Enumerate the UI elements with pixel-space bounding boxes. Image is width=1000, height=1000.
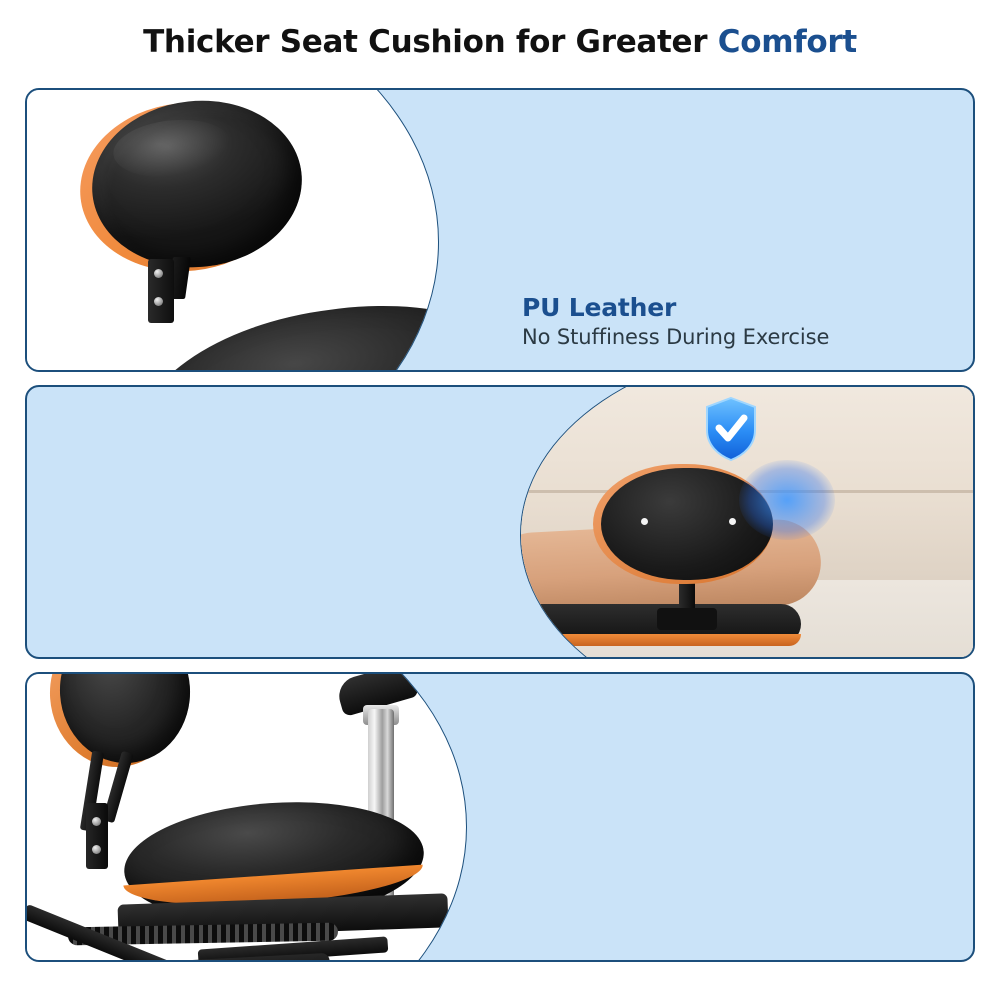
feature-subtitle: No Stuffiness During Exercise <box>522 325 829 351</box>
photo-inner <box>25 88 438 372</box>
bolt-icon <box>92 845 101 854</box>
product-photo-backrest <box>25 88 439 372</box>
page-title-main: Thicker Seat Cushion for Greater <box>143 24 718 60</box>
calf-pad-stem-base <box>657 608 717 630</box>
calf-pad-stud <box>641 518 648 525</box>
feature-panel-calf-knee-cushion: Calf and Knee Cushion Protects Knees and… <box>25 385 975 659</box>
feature-title: PU Leather <box>522 293 829 323</box>
page-title-accent: Comfort <box>718 24 857 60</box>
knee-joint-icon <box>739 460 835 540</box>
infographic-page: Thicker Seat Cushion for Greater Comfort… <box>0 0 1000 1000</box>
page-title: Thicker Seat Cushion for Greater Comfort <box>0 24 1000 60</box>
bolt-icon <box>154 297 163 306</box>
feature-panel-thickened-widened-cushion: Thickened and Widened Cushion More Comfo… <box>25 672 975 962</box>
feature-copy-pu-leather: PU Leather No Stuffiness During Exercise <box>522 293 829 350</box>
shield-check-icon <box>703 396 759 462</box>
bench-orange-trim <box>520 634 801 646</box>
bolt-icon <box>92 817 101 826</box>
bolt-icon <box>154 269 163 278</box>
product-photo-calf-pad <box>520 385 975 659</box>
backrest-bracket <box>148 259 174 323</box>
photo-inner <box>521 385 975 659</box>
calf-pad-stud <box>729 518 736 525</box>
product-photo-seat-assembly <box>25 672 467 962</box>
feature-panel-pu-leather: PU Leather No Stuffiness During Exercise <box>25 88 975 372</box>
backrest-mount-plate <box>86 803 108 869</box>
photo-inner <box>25 672 466 962</box>
